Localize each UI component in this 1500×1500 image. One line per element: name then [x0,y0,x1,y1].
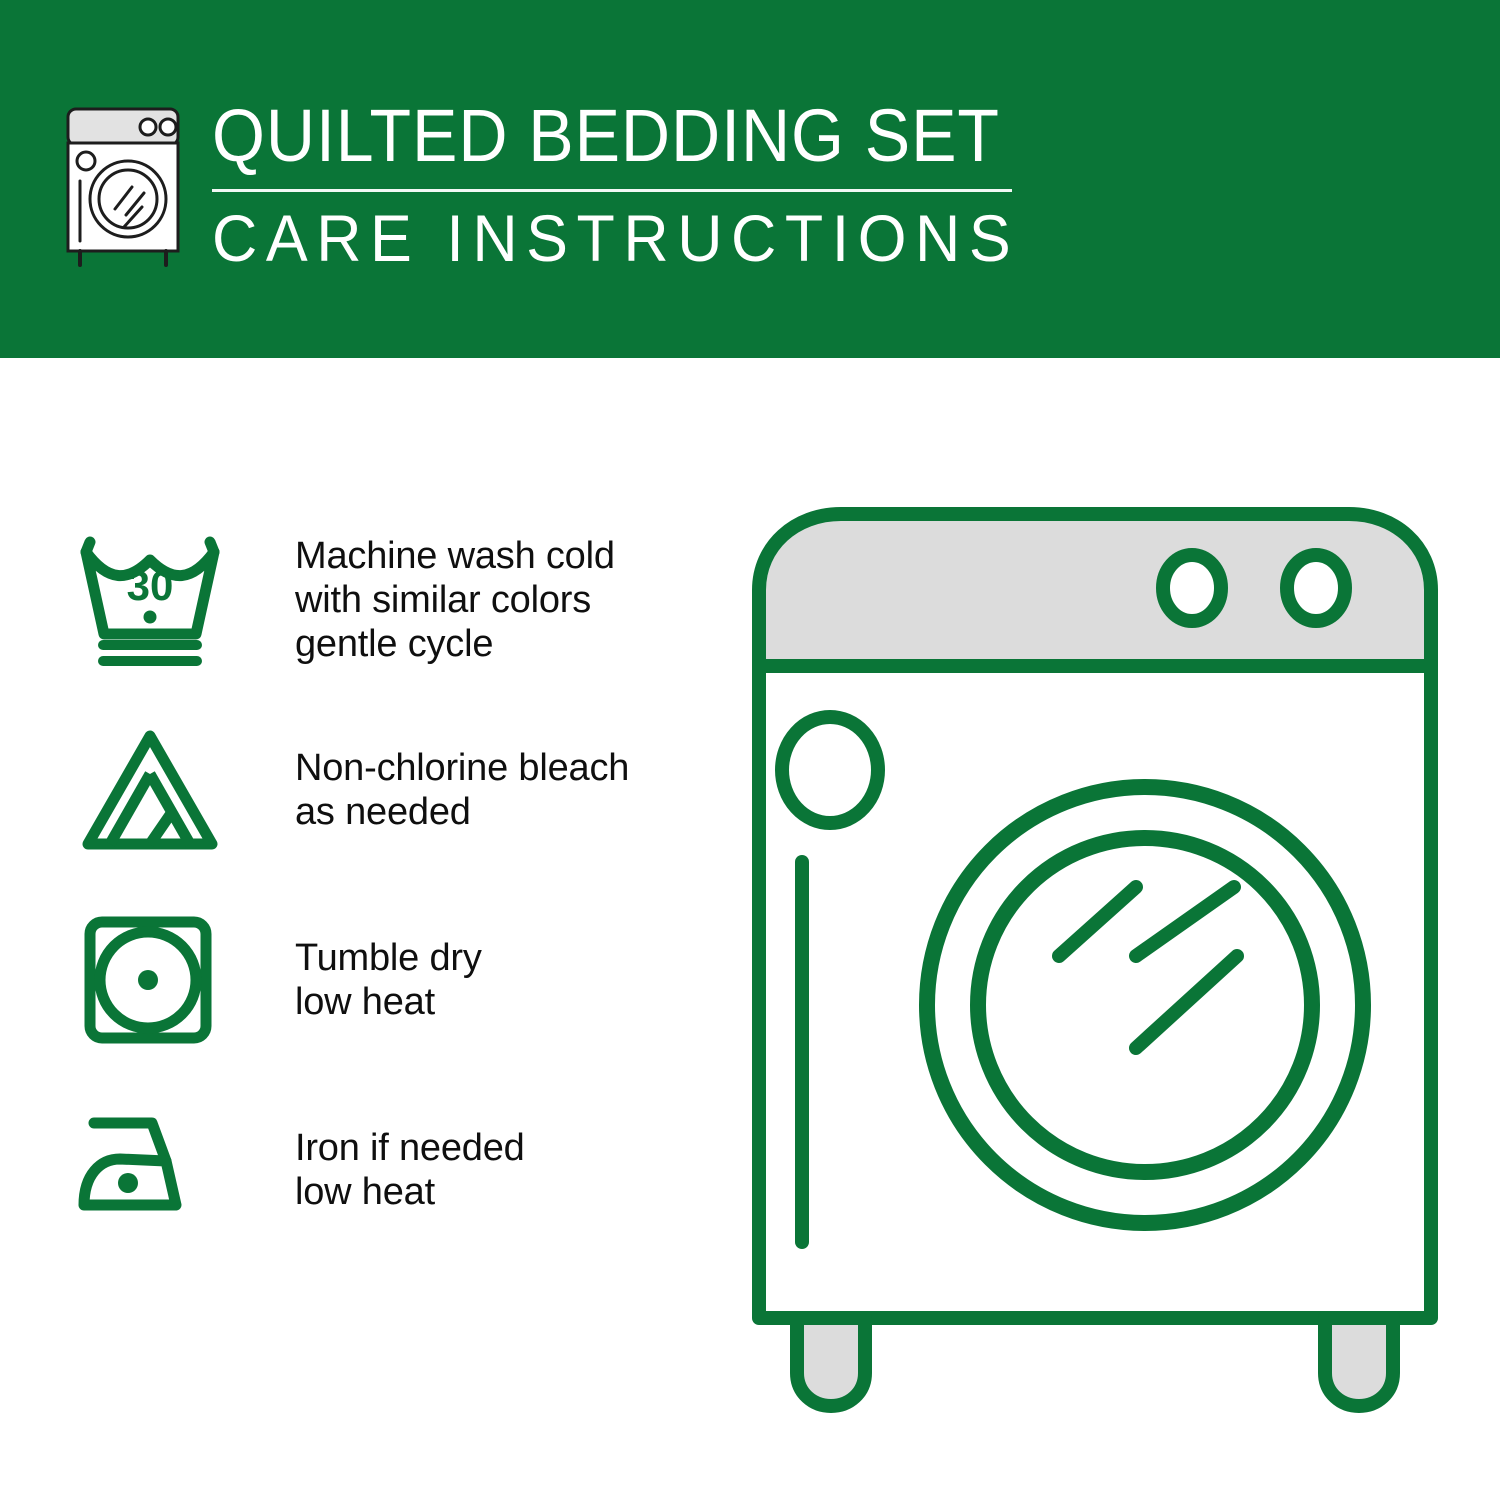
gentle-bar-1 [98,640,202,650]
leg-left [797,1318,865,1406]
iron-icon [70,1105,230,1235]
care-row-machine-wash: 30 Machine wash cold with similar colors… [70,505,710,695]
gentle-bar-2 [98,656,202,666]
dispenser-circle [782,717,878,823]
wash-temperature-label: 30 [127,562,174,609]
washing-machine-icon [60,103,190,273]
care-text-line: as needed [295,790,629,834]
care-text-line: with similar colors [295,578,615,622]
care-text-line: Non-chlorine bleach [295,746,629,790]
dry-heat-dot-icon [138,970,158,990]
iron-symbol-container [70,1105,240,1235]
wash-dot-icon [144,611,157,624]
washing-machine-illustration [745,500,1445,1430]
care-text-tumble-dry: Tumble dry low heat [295,936,482,1024]
header-banner: QUILTED BEDDING SET CARE INSTRUCTIONS [0,0,1500,358]
care-text-bleach: Non-chlorine bleach as needed [295,746,629,834]
leg-right [1325,1318,1393,1406]
knob-right[interactable] [1287,555,1345,621]
care-row-tumble-dry: Tumble dry low heat [70,885,710,1075]
care-text-line: low heat [295,1170,525,1214]
care-text-line: low heat [295,980,482,1024]
care-instruction-list: 30 Machine wash cold with similar colors… [70,505,710,1265]
care-text-line: gentle cycle [295,622,615,666]
door-inner-ring [978,838,1312,1172]
iron-heat-dot-icon [118,1173,138,1193]
care-text-line: Tumble dry [295,936,482,980]
header-text-block: QUILTED BEDDING SET CARE INSTRUCTIONS [212,95,1068,274]
wash-symbol-container: 30 [70,530,240,670]
care-text-iron: Iron if needed low heat [295,1126,525,1214]
care-text-line: Iron if needed [295,1126,525,1170]
title-divider [212,189,1012,192]
tumble-dry-icon [70,910,230,1050]
wash-tub-icon: 30 [70,530,230,670]
care-row-bleach: Non-chlorine bleach as needed [70,695,710,885]
page-title: QUILTED BEDDING SET [212,97,1000,175]
bleach-symbol-container [70,720,240,860]
care-text-machine-wash: Machine wash cold with similar colors ge… [295,534,615,666]
page-subtitle: CARE INSTRUCTIONS [212,202,1026,274]
care-row-iron: Iron if needed low heat [70,1075,710,1265]
knob-left[interactable] [1163,555,1221,621]
care-instructions-page: QUILTED BEDDING SET CARE INSTRUCTIONS 30 [0,0,1500,1500]
care-text-line: Machine wash cold [295,534,615,578]
header-content: QUILTED BEDDING SET CARE INSTRUCTIONS [60,95,1068,274]
tumble-dry-symbol-container [70,910,240,1050]
bleach-triangle-icon [70,720,230,860]
